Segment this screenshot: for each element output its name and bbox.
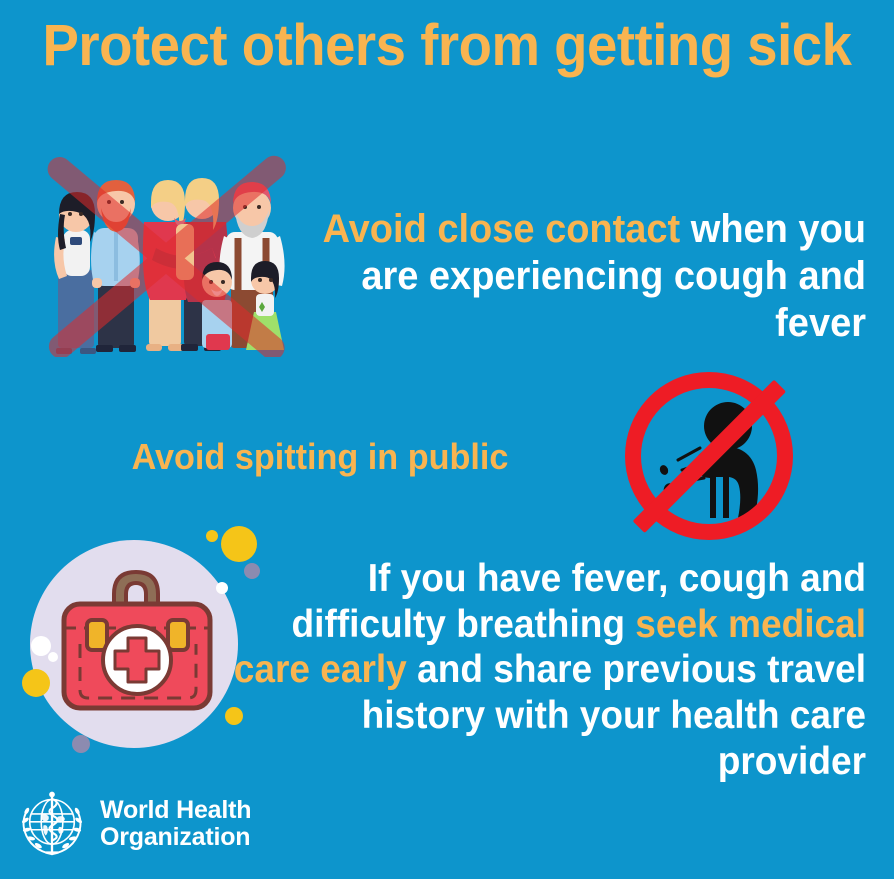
message-highlight: Avoid spitting in public (132, 436, 509, 477)
bag-clasp-right (168, 620, 188, 650)
message-avoid-spitting: Avoid spitting in public (73, 436, 567, 478)
page-title: Protect others from getting sick (27, 16, 867, 77)
who-emblem-icon (16, 788, 88, 860)
message-tail: and share previous travel history with y… (362, 648, 866, 782)
who-logo-wordmark: World Health Organization (100, 797, 251, 851)
bag-clasp-left (87, 620, 107, 650)
message-avoid-close-contact: Avoid close contact when you are experie… (315, 206, 866, 346)
poster: Protect others from getting sick (0, 0, 894, 879)
group-of-people-crossed-out-illustration (26, 152, 306, 357)
message-seek-medical-care: If you have fever, cough and difficulty … (230, 556, 867, 784)
no-spitting-prohibition-sign (616, 372, 802, 540)
prohibition-ring (633, 380, 786, 533)
who-logo: World Health Organization (16, 788, 251, 860)
message-highlight: Avoid close contact (323, 207, 681, 251)
